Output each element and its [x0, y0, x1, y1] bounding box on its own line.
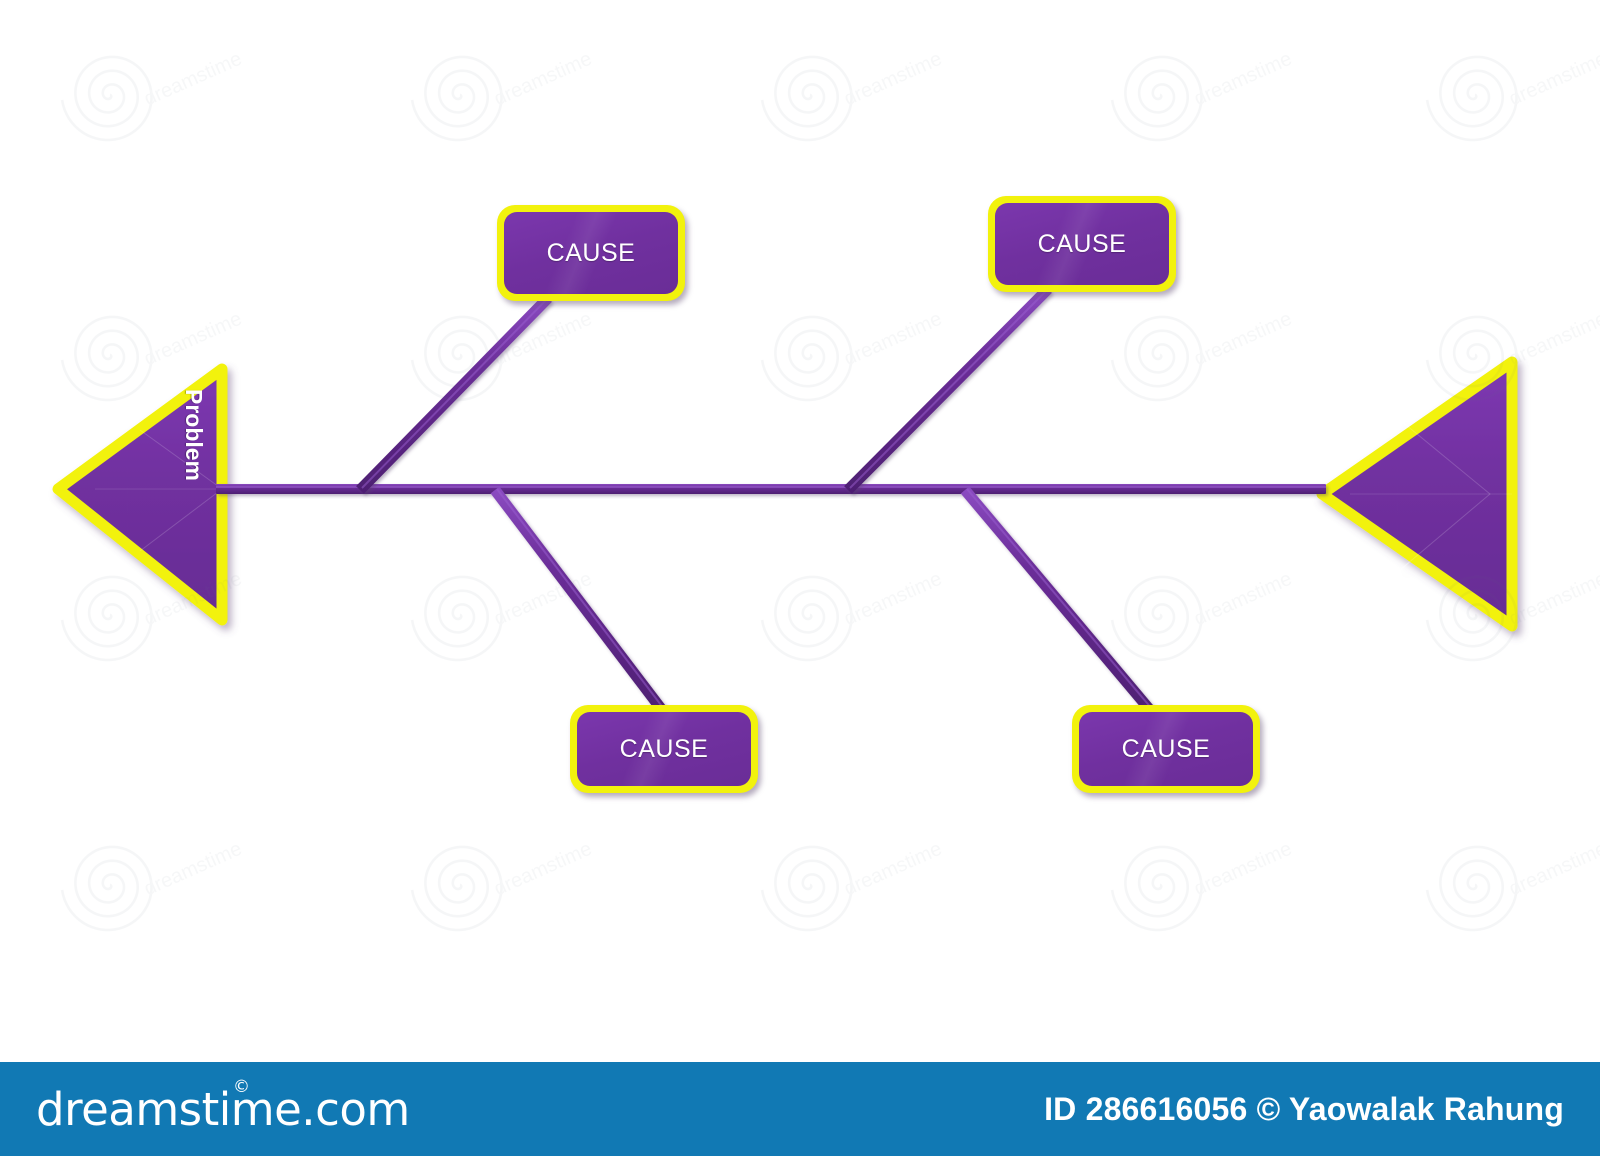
diagram-vector-layer	[0, 0, 1600, 1054]
cause-box-fill: CAUSE	[504, 212, 678, 294]
image-credit: ID 286616056 © Yaowalak Rahung	[1044, 1091, 1564, 1128]
problem-head-triangle[interactable]	[58, 369, 222, 620]
cause-label: CAUSE	[620, 735, 709, 764]
cause-box-fill: CAUSE	[1079, 712, 1253, 786]
fishbone-diagram: Problem CAUSE CAUSE CAUSE CAUSE dreamsti…	[0, 0, 1600, 1054]
cause-bone-upper-right	[848, 287, 1050, 490]
cause-bone-lower-left	[495, 489, 664, 710]
stock-footer-bar: dreamstime.com © ID 286616056 © Yaowalak…	[0, 1062, 1600, 1156]
cause-bone-lower-right	[965, 489, 1152, 710]
cause-box-lower-left[interactable]: CAUSE	[570, 705, 758, 793]
cause-label: CAUSE	[1038, 230, 1127, 259]
cause-label: CAUSE	[547, 239, 636, 268]
brand-name: dreamstime.com	[36, 1083, 410, 1136]
cause-box-fill: CAUSE	[577, 712, 751, 786]
cause-box-fill: CAUSE	[995, 203, 1169, 285]
cause-box-upper-left[interactable]: CAUSE	[497, 205, 685, 301]
spine-line	[216, 484, 1326, 494]
cause-label: CAUSE	[1122, 735, 1211, 764]
copyright-icon: ©	[233, 1077, 250, 1097]
cause-box-upper-right[interactable]: CAUSE	[988, 196, 1176, 292]
cause-box-lower-right[interactable]: CAUSE	[1072, 705, 1260, 793]
tail-triangle[interactable]	[1322, 362, 1512, 626]
dreamstime-logo[interactable]: dreamstime.com ©	[36, 1083, 410, 1136]
screenshot-root: Problem CAUSE CAUSE CAUSE CAUSE dreamsti…	[0, 0, 1600, 1156]
cause-bone-upper-left	[360, 296, 550, 490]
